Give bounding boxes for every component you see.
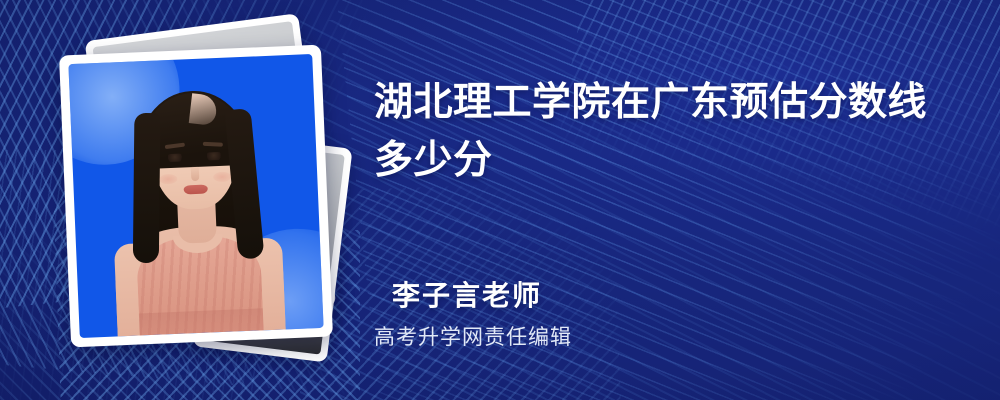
portrait-card-front	[59, 45, 333, 348]
author-role: 高考升学网责任编辑	[374, 321, 572, 351]
eyebrow-right	[203, 142, 223, 147]
portrait-photo	[68, 54, 323, 338]
text-column: 湖北理工学院在广东预估分数线多少分 李子言老师 高考升学网责任编辑	[374, 0, 974, 400]
mouth	[184, 185, 208, 195]
eye-right	[205, 152, 222, 161]
hair-lock-left	[133, 113, 161, 263]
portrait-card-stack	[55, 28, 355, 358]
author-name: 李子言老师	[392, 274, 542, 314]
eye-left	[166, 153, 183, 162]
nose	[191, 165, 200, 181]
portrait-figure	[68, 54, 323, 338]
dress-waistband	[139, 308, 264, 335]
page-title: 湖北理工学院在广东预估分数线多少分	[374, 74, 952, 190]
banner-image: 湖北理工学院在广东预估分数线多少分 李子言老师 高考升学网责任编辑	[0, 0, 1000, 400]
